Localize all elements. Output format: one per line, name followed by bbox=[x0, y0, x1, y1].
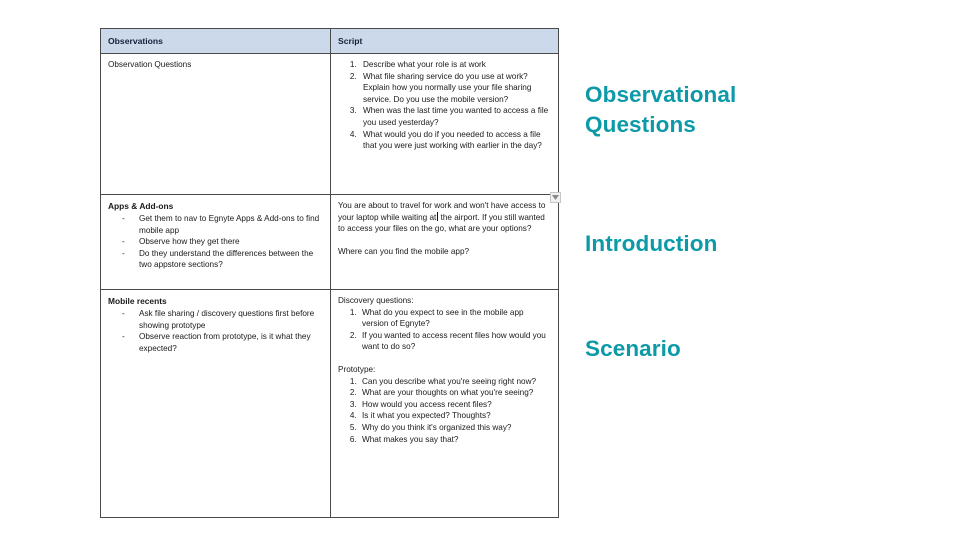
cell-script-row2[interactable]: You are about to travel for work and won… bbox=[331, 195, 559, 290]
list-item: Why do you think it's organized this way… bbox=[359, 422, 551, 434]
script-numbered-list-row1: Describe what your role is at work What … bbox=[338, 59, 551, 152]
cell-observations-row2: Apps & Add-ons Get them to nav to Egnyte… bbox=[101, 195, 331, 290]
cell-observations-row3: Mobile recents Ask file sharing / discov… bbox=[101, 290, 331, 518]
list-item: How would you access recent files? bbox=[359, 399, 551, 411]
list-item: What file sharing service do you use at … bbox=[359, 71, 551, 106]
observations-dash-list-row2: Get them to nav to Egnyte Apps & Add-ons… bbox=[108, 213, 323, 271]
cell-script-row1: Describe what your role is at work What … bbox=[331, 54, 559, 195]
observations-title-row3: Mobile recents bbox=[108, 295, 323, 307]
observations-title-row2: Apps & Add-ons bbox=[108, 200, 323, 212]
list-item: What would you do if you needed to acces… bbox=[359, 129, 551, 152]
list-item: Is it what you expected? Thoughts? bbox=[359, 410, 551, 422]
dropdown-triangle-icon[interactable] bbox=[550, 192, 561, 203]
list-item: Observe how they get there bbox=[122, 236, 323, 248]
table-row: Observation Questions Describe what your… bbox=[101, 54, 559, 195]
column-header-observations: Observations bbox=[101, 29, 331, 54]
list-item: Get them to nav to Egnyte Apps & Add-ons… bbox=[122, 213, 323, 236]
prototype-questions-list: Can you describe what you're seeing righ… bbox=[338, 376, 551, 446]
table-row: Apps & Add-ons Get them to nav to Egnyte… bbox=[101, 195, 559, 290]
paragraph-spacer bbox=[338, 235, 551, 246]
list-item: Can you describe what you're seeing righ… bbox=[359, 376, 551, 388]
section-label-scenario: Scenario bbox=[585, 334, 681, 364]
observations-title-row1: Observation Questions bbox=[108, 59, 323, 71]
section-label-observational-questions: Observational Questions bbox=[585, 80, 736, 140]
list-item: If you wanted to access recent files how… bbox=[359, 330, 551, 353]
list-item: What do you expect to see in the mobile … bbox=[359, 307, 551, 330]
observations-dash-list-row3: Ask file sharing / discovery questions f… bbox=[108, 308, 323, 354]
script-paragraph-2-row2: Where can you find the mobile app? bbox=[338, 246, 551, 258]
discovery-questions-label: Discovery questions: bbox=[338, 295, 551, 307]
list-item: What are your thoughts on what you're se… bbox=[359, 387, 551, 399]
list-item: When was the last time you wanted to acc… bbox=[359, 105, 551, 128]
research-script-table-wrapper: Observations Script Observation Question… bbox=[100, 28, 558, 518]
discovery-questions-list: What do you expect to see in the mobile … bbox=[338, 307, 551, 353]
script-paragraph-1-row2: You are about to travel for work and won… bbox=[338, 200, 551, 235]
table-header-row: Observations Script bbox=[101, 29, 559, 54]
list-item: Do they understand the differences betwe… bbox=[122, 248, 323, 271]
prototype-label: Prototype: bbox=[338, 364, 551, 376]
list-item: Observe reaction from prototype, is it w… bbox=[122, 331, 323, 354]
research-script-table: Observations Script Observation Question… bbox=[100, 28, 559, 518]
slide-canvas: Observations Script Observation Question… bbox=[0, 0, 960, 540]
cell-script-row3: Discovery questions: What do you expect … bbox=[331, 290, 559, 518]
list-item: Describe what your role is at work bbox=[359, 59, 551, 71]
section-label-introduction: Introduction bbox=[585, 229, 717, 259]
paragraph-spacer bbox=[338, 353, 551, 364]
table-row: Mobile recents Ask file sharing / discov… bbox=[101, 290, 559, 518]
list-item: What makes you say that? bbox=[359, 434, 551, 446]
column-header-script: Script bbox=[331, 29, 559, 54]
cell-observations-row1: Observation Questions bbox=[101, 54, 331, 195]
list-item: Ask file sharing / discovery questions f… bbox=[122, 308, 323, 331]
text-caret bbox=[437, 212, 438, 221]
